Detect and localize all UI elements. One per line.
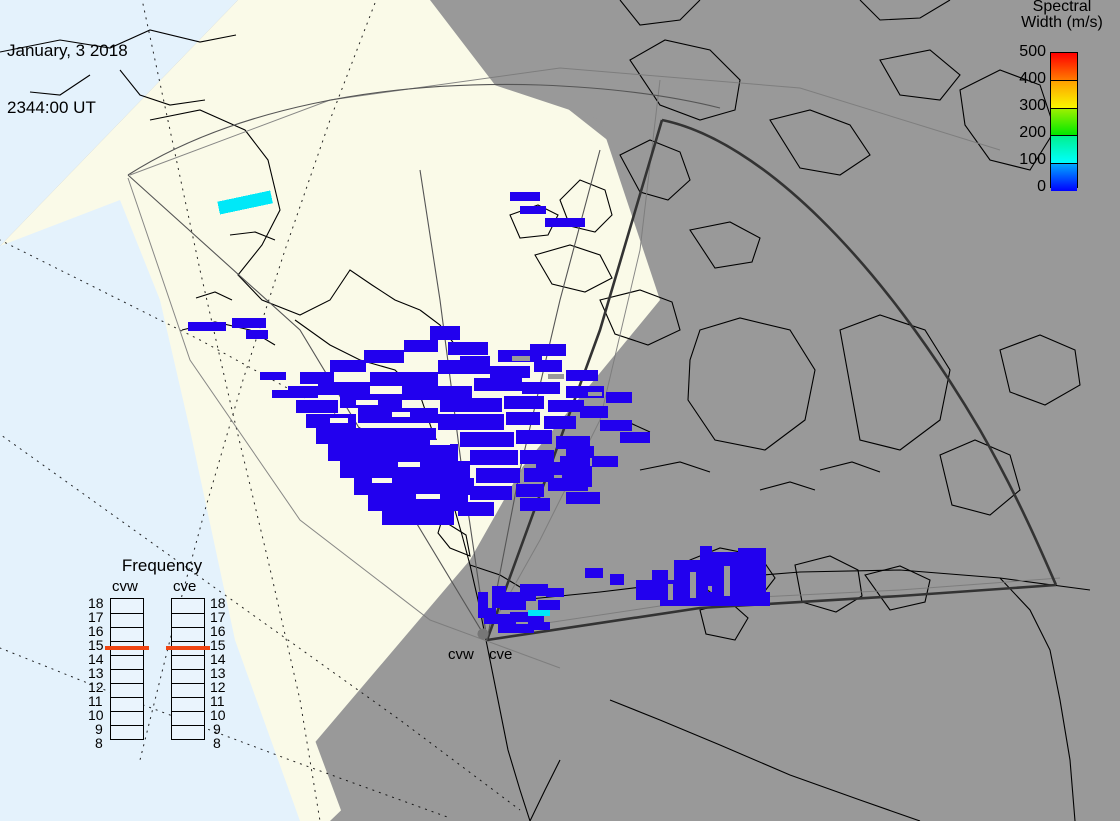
freq-tick-right-16: 16: [210, 624, 226, 638]
freq-tick-left-9: 9: [95, 722, 103, 736]
freq-tick-left-16: 16: [88, 624, 104, 638]
frequency-column-header-cve: cve: [173, 578, 196, 595]
frequency-marker-cvw: [105, 646, 149, 650]
freq-tick-right-10: 10: [210, 708, 226, 722]
frequency-legend: Frequency cvw cve 18 17 16 15 14 13 12 1…: [82, 556, 242, 792]
freq-tick-right-11: 11: [210, 694, 225, 708]
freq-tick-right-9: 9: [213, 722, 221, 736]
freq-tick-right-17: 17: [210, 610, 226, 624]
timestamp-time: 2344:00 UT: [7, 98, 128, 117]
radar-site-label-cve: cve: [489, 646, 512, 663]
freq-tick-left-10: 10: [88, 708, 104, 722]
freq-tick-left-13: 13: [88, 666, 104, 680]
freq-tick-right-18: 18: [210, 596, 226, 610]
freq-tick-left-18: 18: [88, 596, 104, 610]
timestamp-date: January, 3 2018: [7, 41, 128, 60]
frequency-legend-title: Frequency: [82, 556, 242, 576]
freq-tick-left-17: 17: [88, 610, 104, 624]
freq-tick-left-14: 14: [88, 652, 104, 666]
freq-tick-right-15: 15: [210, 638, 226, 652]
freq-tick-right-14: 14: [210, 652, 226, 666]
freq-tick-right-8: 8: [213, 736, 221, 750]
radar-site-label-cvw: cvw: [448, 646, 474, 663]
freq-tick-left-12: 12: [88, 680, 104, 694]
freq-tick-right-13: 13: [210, 666, 226, 680]
radar-site-marker: [478, 629, 489, 640]
timestamp-overlay: January, 3 2018 2344:00 UT: [7, 3, 128, 155]
freq-tick-left-15: 15: [88, 638, 104, 652]
frequency-bar-cvw: [110, 598, 144, 740]
frequency-column-header-cvw: cvw: [112, 578, 138, 595]
freq-tick-right-12: 12: [210, 680, 226, 694]
frequency-bar-cve: [171, 598, 205, 740]
radar-map-canvas: January, 3 2018 2344:00 UT Spectral Widt…: [0, 0, 1120, 821]
freq-tick-left-11: 11: [88, 694, 103, 708]
freq-tick-left-8: 8: [95, 736, 103, 750]
frequency-marker-cve: [166, 646, 210, 650]
